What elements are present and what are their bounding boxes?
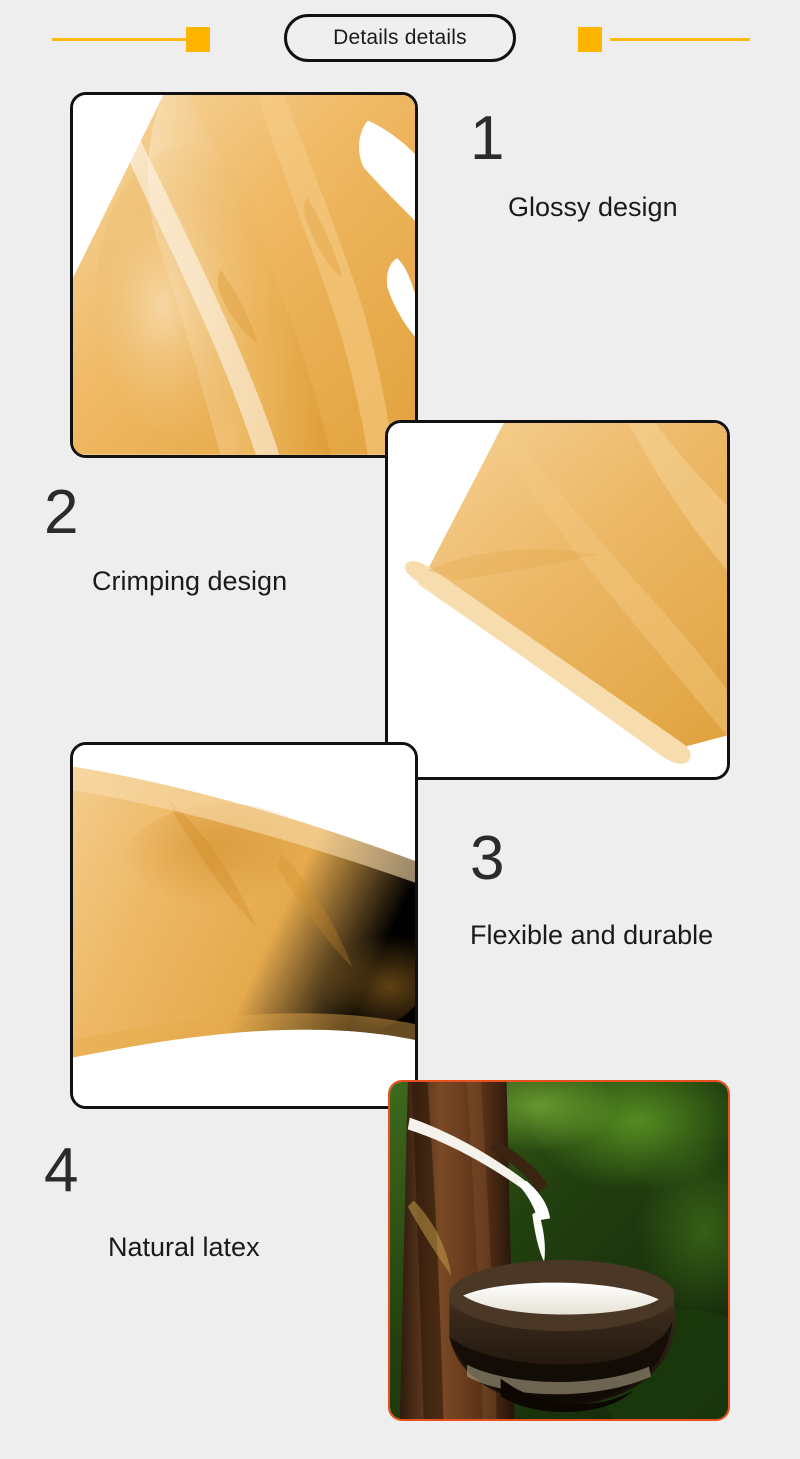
rubber-tree-tapping-latex-bowl-image [390,1082,728,1419]
header-rule-right [610,38,750,41]
glove-fingers-closeup-image [73,95,415,455]
feature-number-2: 2 [44,482,287,544]
feature-caption-4: 4 Natural latex [44,1140,260,1263]
feature-image-card-3 [70,742,418,1109]
header-rule-left [52,38,187,41]
page-header: Details details [0,0,800,88]
feature-caption-2: 2 Crimping design [44,482,287,597]
feature-label-1: Glossy design [508,192,678,223]
page-title: Details details [333,26,467,50]
feature-image-card-4 [388,1080,730,1421]
feature-caption-1: 1 Glossy design [470,108,678,223]
feature-caption-3: 3 Flexible and durable [470,828,713,951]
glove-rolled-cuff-closeup-image [388,423,727,777]
feature-number-3: 3 [470,828,713,890]
feature-image-card-2 [385,420,730,780]
feature-label-2: Crimping design [92,566,287,597]
feature-label-4: Natural latex [108,1232,260,1263]
feature-number-1: 1 [470,108,678,170]
page-title-badge: Details details [284,14,516,62]
feature-image-card-1 [70,92,418,458]
feature-label-3: Flexible and durable [470,920,713,951]
header-square-right-icon [578,27,602,52]
feature-number-4: 4 [44,1140,260,1202]
stretched-latex-band-closeup-image [73,745,415,1106]
header-square-left-icon [186,27,210,52]
